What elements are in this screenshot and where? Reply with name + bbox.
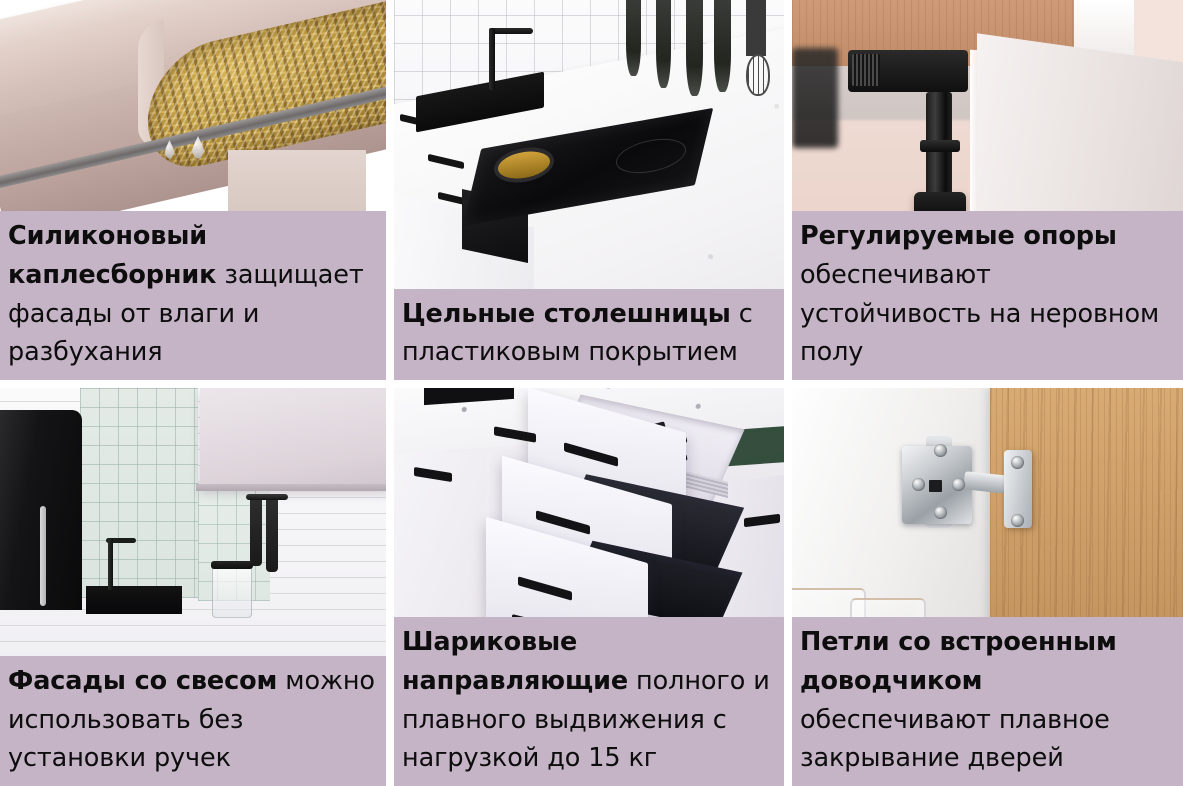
kitchen-utensil-icon — [656, 0, 671, 88]
sink-shape — [86, 586, 182, 614]
panel-6-caption-regular: обеспечивают плавное закрывание дверей — [800, 705, 1110, 774]
screw-icon — [1011, 456, 1024, 469]
faucet-arm-shape — [489, 28, 533, 34]
panel-5-caption-bold: Шариковые направляющие — [402, 627, 628, 696]
panel-6-caption: Петли со встроенным доводчиком обеспечив… — [792, 617, 1183, 786]
grid-gap — [0, 380, 1183, 388]
leg-adjust-ring-shape — [920, 140, 960, 152]
grid-gap — [784, 388, 792, 786]
screw-icon — [952, 478, 965, 491]
feature-panel-4: Фасады со свесом можно использовать без … — [0, 388, 386, 786]
screw-icon — [934, 506, 947, 519]
feature-panel-2: Цельные столешницы с пластиковым покрыти… — [394, 0, 784, 380]
grid-gap — [784, 0, 792, 380]
kitchen-utensil-icon — [714, 0, 731, 92]
leg-clip-grill-shape — [852, 54, 880, 86]
faucet-shape — [489, 28, 495, 90]
feature-panel-3: Регулируемые опоры обеспечивают устойчив… — [792, 0, 1183, 380]
kitchen-utensil-icon — [686, 0, 703, 96]
cabinet-handle-shape — [40, 506, 46, 606]
hanging-utensil-icon — [250, 500, 262, 566]
panel-2-caption: Цельные столешницы с пластиковым покрыти… — [394, 289, 784, 381]
feature-panel-1: Силиконовый каплесборник защищает фасады… — [0, 0, 386, 380]
hanging-utensil-icon — [266, 500, 278, 572]
background-leg-shape — [792, 48, 838, 148]
grid-gap — [386, 0, 394, 380]
feature-panel-5: Шариковые направляющие полного и плавног… — [394, 388, 784, 786]
feature-panel-6: Петли со встроенным доводчиком обеспечив… — [792, 388, 1183, 786]
panel-4-caption-bold: Фасады со свесом — [8, 666, 277, 696]
panel-1-caption-bold: Силиконовый каплесборник — [8, 221, 216, 290]
panel-6-caption-bold: Петли со встроенным доводчиком — [800, 627, 1117, 696]
panel-3-caption-bold: Регулируемые опоры — [800, 221, 1117, 251]
whisk-icon — [746, 0, 766, 96]
panel-3-caption-regular: обеспечивают устойчивость на неровном по… — [800, 260, 1159, 368]
panel-3-caption: Регулируемые опоры обеспечивают устойчив… — [792, 211, 1183, 380]
mint-tile-backsplash-shape — [80, 388, 198, 598]
panel-1-caption: Силиконовый каплесборник защищает фасады… — [0, 211, 386, 380]
glass-kettle-shape — [212, 566, 252, 618]
screw-icon — [934, 444, 947, 457]
panel-4-caption: Фасады со свесом можно использовать без … — [0, 656, 386, 786]
panel-5-caption: Шариковые направляющие полного и плавног… — [394, 617, 784, 786]
kitchen-utensil-icon — [626, 0, 641, 76]
overhang-lip-shape — [196, 484, 386, 491]
faucet-shape — [108, 538, 113, 590]
screw-icon — [1011, 514, 1024, 527]
grid-gap — [386, 388, 394, 786]
screw-icon — [912, 478, 925, 491]
feature-grid: Силиконовый каплесборник защищает фасады… — [0, 0, 1183, 786]
hinge-adjust-hole-shape — [929, 480, 942, 492]
upper-cabinet-shape — [200, 388, 386, 490]
panel-2-caption-bold: Цельные столешницы — [402, 299, 731, 329]
